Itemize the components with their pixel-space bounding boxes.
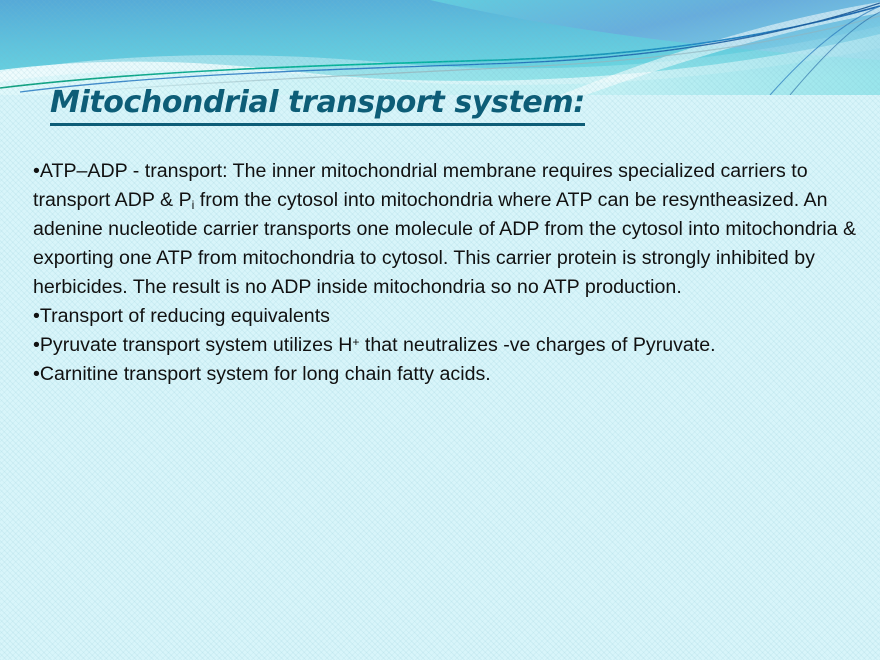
bullet-pyruvate-transport-system: •Pyruvate transport system utilizes H+ t… bbox=[33, 331, 861, 360]
slide-body: •ATP–ADP - transport: The inner mitochon… bbox=[33, 157, 861, 389]
bullet-atp-adp-transport: •ATP–ADP - transport: The inner mitochon… bbox=[33, 157, 861, 302]
bullet-pyruvate-text-before-superscript: •Pyruvate transport system utilizes H bbox=[33, 334, 352, 356]
header-wave-decoration bbox=[0, 0, 880, 95]
presentation-slide: Mitochondrial transport system: •ATP–ADP… bbox=[0, 0, 880, 660]
title-block: Mitochondrial transport system: bbox=[50, 86, 585, 126]
bullet-transport-reducing-equivalents: •Transport of reducing equivalents bbox=[33, 302, 861, 331]
bullet-pyruvate-text-after-superscript: that neutralizes -ve charges of Pyruvate… bbox=[359, 334, 715, 356]
bullet-carnitine-transport-system: •Carnitine transport system for long cha… bbox=[33, 360, 861, 389]
slide-title: Mitochondrial transport system: bbox=[50, 86, 585, 126]
